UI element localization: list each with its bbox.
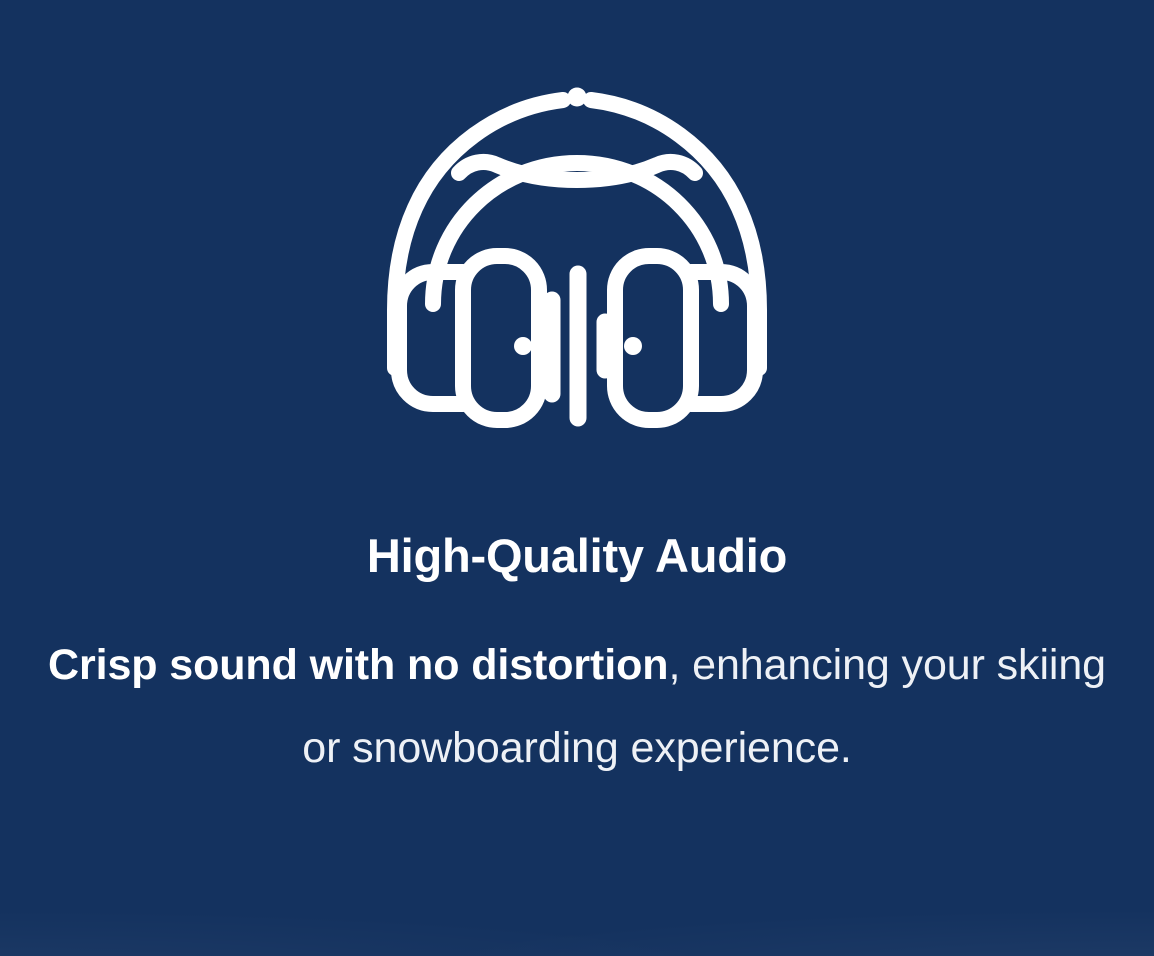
feature-description-lead: Crisp sound with no distortion [48, 641, 668, 689]
right-ear-cup [615, 256, 691, 420]
headband-top-dot [568, 88, 587, 107]
feature-title: High-Quality Audio [367, 530, 787, 582]
waveform-dot-right [624, 337, 642, 355]
feature-card: High-Quality Audio Crisp sound with no d… [0, 0, 1154, 956]
feature-description: Crisp sound with no distortion, enhancin… [32, 624, 1122, 791]
left-ear-cup [463, 256, 539, 420]
waveform-dot-left [514, 337, 532, 355]
headphones-icon [367, 78, 787, 438]
